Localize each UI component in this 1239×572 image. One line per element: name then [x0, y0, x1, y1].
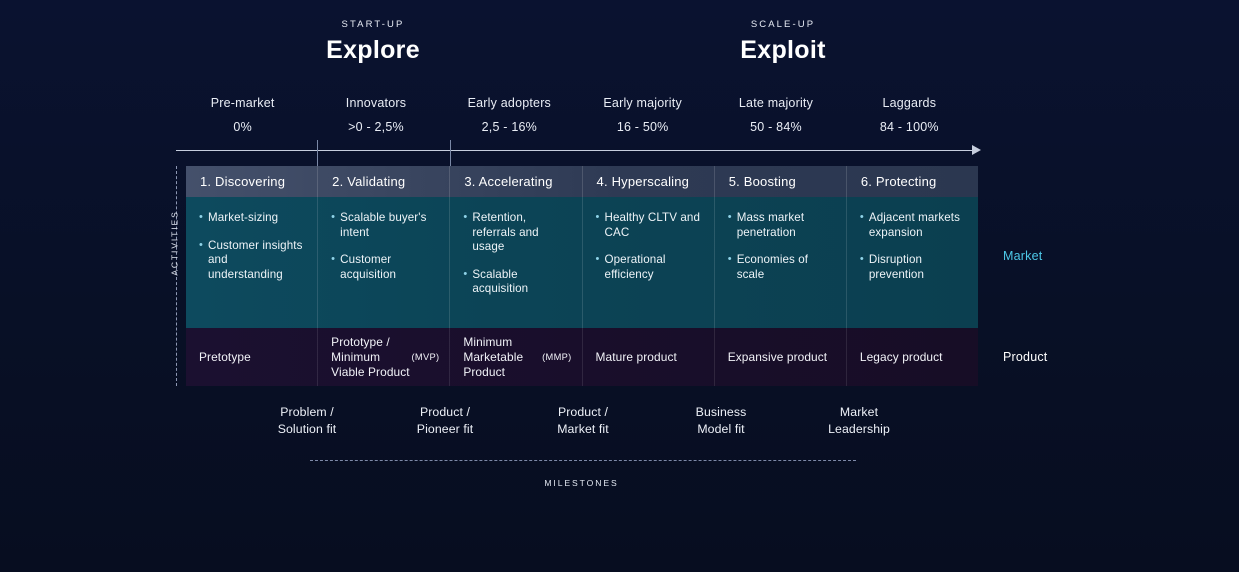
adoption-name: Pre-market	[176, 96, 309, 110]
product-abbr: (MMP)	[542, 350, 571, 365]
phase-kicker-scaleup: SCALE-UP	[663, 19, 903, 30]
activity-bullet: Disruption prevention	[860, 253, 966, 282]
milestone-problem-solution-fit: Problem /Solution fit	[238, 404, 376, 438]
milestone-business-model-fit: BusinessModel fit	[652, 404, 790, 438]
adoption-segment-early-majority: Early majority 16 - 50%	[576, 96, 709, 144]
adoption-segment-innovators: Innovators >0 - 2,5%	[309, 96, 442, 144]
adoption-name: Early adopters	[443, 96, 576, 110]
phase-banner-explore: START-UP Explore	[253, 19, 493, 65]
product-cell-accelerating: Minimum Marketable Product(MMP)	[450, 328, 582, 386]
activity-bullet: Scalable buyer's intent	[331, 211, 437, 240]
activities-bracket	[176, 166, 177, 386]
activities-cell-validating: Scalable buyer's intent Customer acquisi…	[318, 197, 450, 328]
row-label-market: Market	[1003, 249, 1042, 263]
adoption-name: Innovators	[309, 96, 442, 110]
product-text: Mature product	[596, 350, 677, 365]
activity-bullet: Adjacent markets expansion	[860, 211, 966, 240]
activities-cell-boosting: Mass market penetration Economies of sca…	[715, 197, 847, 328]
adoption-percent: 0%	[176, 120, 309, 134]
adoption-percent: 2,5 - 16%	[443, 120, 576, 134]
product-text: Expansive product	[728, 350, 828, 365]
product-cell-hyperscaling: Mature product	[583, 328, 715, 386]
activities-cell-discovering: Market-sizing Customer insights and unde…	[186, 197, 318, 328]
adoption-header-row: Pre-market 0% Innovators >0 - 2,5% Early…	[176, 96, 976, 144]
product-text: Pretotype	[199, 350, 251, 365]
timeline-arrow-icon	[972, 145, 981, 155]
activities-cell-hyperscaling: Healthy CLTV and CAC Operational efficie…	[583, 197, 715, 328]
product-cell-validating: Prototype / Minimum Viable Product (MVP)	[318, 328, 450, 386]
activity-bullet: Operational efficiency	[596, 253, 702, 282]
milestones-divider	[310, 460, 856, 461]
adoption-segment-early-adopters: Early adopters 2,5 - 16%	[443, 96, 576, 144]
adoption-segment-laggards: Laggards 84 - 100%	[843, 96, 976, 144]
stage-grid: 1. Discovering 2. Validating 3. Accelera…	[186, 166, 978, 386]
activities-cell-accelerating: Retention, referrals and usage Scalable …	[450, 197, 582, 328]
stage-header-accelerating[interactable]: 3. Accelerating	[450, 166, 582, 197]
milestones-axis-label: MILESTONES	[0, 478, 1163, 488]
adoption-name: Late majority	[709, 96, 842, 110]
activity-bullet: Customer acquisition	[331, 253, 437, 282]
activities-cell-protecting: Adjacent markets expansion Disruption pr…	[847, 197, 978, 328]
phase-kicker-startup: START-UP	[253, 19, 493, 30]
stage-header-discovering[interactable]: 1. Discovering	[186, 166, 318, 197]
product-cell-discovering: Pretotype	[186, 328, 318, 386]
stage-header-protecting[interactable]: 6. Protecting	[847, 166, 978, 197]
activity-bullet: Economies of scale	[728, 253, 834, 282]
product-text: Prototype / Minimum Viable Product	[331, 335, 411, 380]
adoption-segment-pre-market: Pre-market 0%	[176, 96, 309, 144]
stage-header-row: 1. Discovering 2. Validating 3. Accelera…	[186, 166, 978, 197]
phase-title-explore: Explore	[253, 36, 493, 65]
activity-bullet: Healthy CLTV and CAC	[596, 211, 702, 240]
activity-bullet: Customer insights and understanding	[199, 239, 305, 283]
activity-bullet: Market-sizing	[199, 211, 305, 226]
activity-bullet: Retention, referrals and usage	[463, 211, 569, 255]
adoption-percent: >0 - 2,5%	[309, 120, 442, 134]
adoption-segment-late-majority: Late majority 50 - 84%	[709, 96, 842, 144]
adoption-percent: 16 - 50%	[576, 120, 709, 134]
diagram-canvas: START-UP Explore SCALE-UP Exploit Pre-ma…	[0, 0, 1239, 572]
milestone-product-pioneer-fit: Product /Pioneer fit	[376, 404, 514, 438]
milestone-market-leadership: MarketLeadership	[790, 404, 928, 438]
milestones-row: Problem /Solution fit Product /Pioneer f…	[238, 404, 928, 438]
adoption-percent: 84 - 100%	[843, 120, 976, 134]
stage-header-validating[interactable]: 2. Validating	[318, 166, 450, 197]
product-cell-protecting: Legacy product	[847, 328, 978, 386]
milestone-product-market-fit: Product /Market fit	[514, 404, 652, 438]
stage-header-boosting[interactable]: 5. Boosting	[715, 166, 847, 197]
activity-bullet: Scalable acquisition	[463, 268, 569, 297]
product-row: Pretotype Prototype / Minimum Viable Pro…	[186, 328, 978, 386]
stage-header-hyperscaling[interactable]: 4. Hyperscaling	[583, 166, 715, 197]
product-cell-boosting: Expansive product	[715, 328, 847, 386]
row-label-product: Product	[1003, 350, 1047, 364]
activities-row: Market-sizing Customer insights and unde…	[186, 197, 978, 328]
product-text: Legacy product	[860, 350, 943, 365]
adoption-name: Early majority	[576, 96, 709, 110]
activities-axis-label: ACTIVITIES	[170, 210, 180, 275]
product-text: Minimum Marketable Product	[463, 335, 542, 380]
phase-banner-exploit: SCALE-UP Exploit	[663, 19, 903, 65]
adoption-percent: 50 - 84%	[709, 120, 842, 134]
adoption-name: Laggards	[843, 96, 976, 110]
activity-bullet: Mass market penetration	[728, 211, 834, 240]
product-abbr: (MVP)	[412, 350, 440, 365]
timeline-axis	[176, 150, 976, 151]
phase-title-exploit: Exploit	[663, 36, 903, 65]
